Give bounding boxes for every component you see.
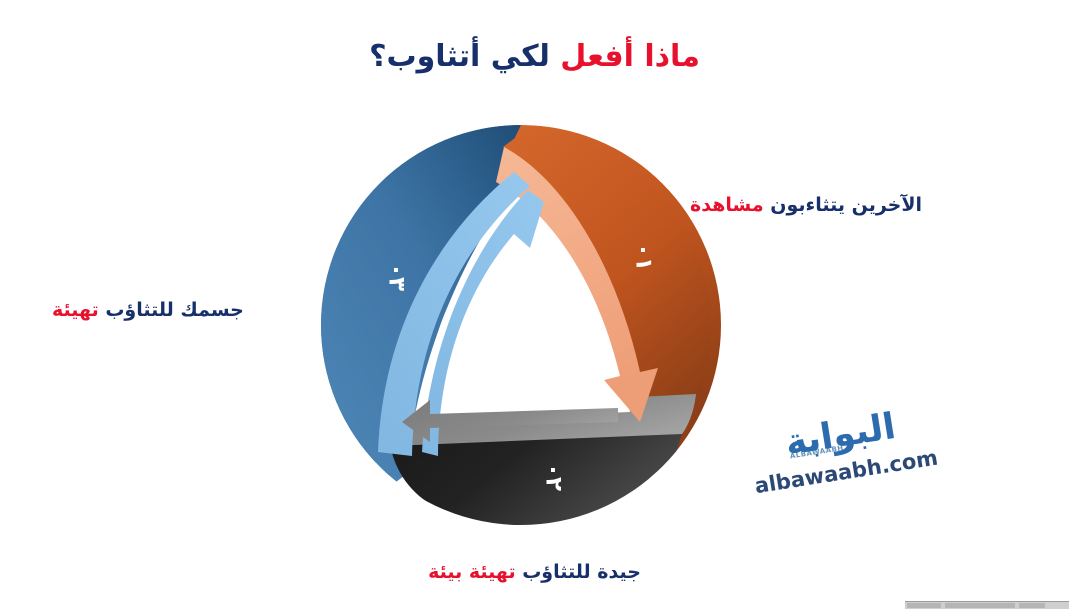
watermark-arabic-text: البوابة <box>743 400 937 470</box>
chrome-seg-1 <box>907 603 941 608</box>
segment-3-label-rest: جسمك للتثاؤب <box>105 299 244 321</box>
page-title: ماذا أفعل لكي أتثاوب؟ <box>0 38 1069 76</box>
cycle-diagram: ٠١ ٠٢ ٠٣ البوابة ALBAWAABH albawaabh.com <box>318 122 724 528</box>
segment-3-label: جسمك للتثاؤب تهيئة <box>52 298 244 323</box>
infographic-canvas: ماذا أفعل لكي أتثاوب؟ <box>0 0 1069 609</box>
bottom-chrome-strip <box>905 601 1069 609</box>
segment-1-number: ٠١ <box>631 243 657 271</box>
segment-3-number: ٠٣ <box>384 263 410 291</box>
watermark-domain-text: albawaabh.com <box>751 445 942 498</box>
segment-2-label: جيدة للتثاؤب تهيئة بيئة <box>0 560 1069 585</box>
segment-3-label-highlight: تهيئة <box>52 299 99 321</box>
watermark-logo: البوابة ALBAWAABH albawaabh.com <box>743 400 946 528</box>
chrome-seg-2 <box>945 603 1015 608</box>
page-title-highlight: ماذا أفعل <box>560 39 700 74</box>
segment-2-label-rest: جيدة للتثاؤب <box>522 561 641 583</box>
page-title-rest: لكي أتثاوب؟ <box>369 39 550 74</box>
segment-1-label: الآخرين يتثاءبون مشاهدة <box>690 193 922 218</box>
segment-2-label-highlight: تهيئة بيئة <box>428 561 516 583</box>
segment-1-label-rest: الآخرين يتثاءبون <box>770 194 922 216</box>
segment-2-number: ٠٢ <box>541 463 567 491</box>
segment-1-label-highlight: مشاهدة <box>690 194 764 216</box>
watermark-tiny-text: ALBAWAABH <box>774 442 860 463</box>
chrome-seg-3 <box>1019 603 1045 608</box>
